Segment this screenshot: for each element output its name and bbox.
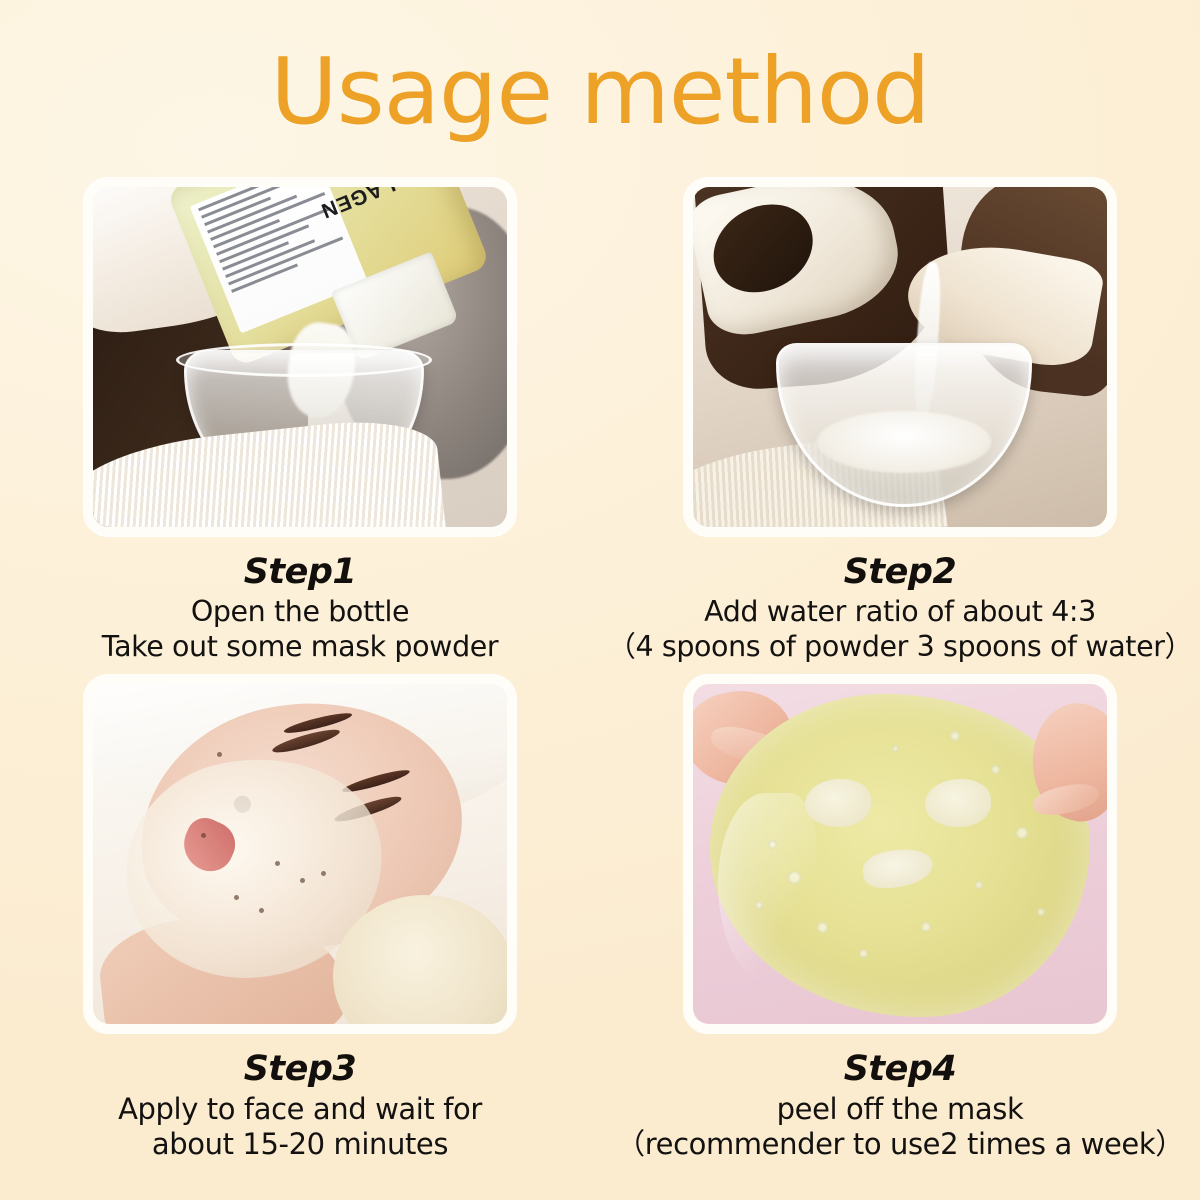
photo3-mask-speck <box>321 871 326 876</box>
photo4-bubble <box>921 922 931 932</box>
step-cell-4: Step4 peel off the mask （recommender to … <box>600 675 1200 1163</box>
step-label-1: Step1 <box>0 552 600 592</box>
step-label-3: Step3 <box>0 1049 600 1089</box>
step-caption-4: Step4 peel off the mask （recommender to … <box>600 1033 1200 1163</box>
step-caption-1: Step1 Open the bottle Take out some mask… <box>0 536 600 665</box>
photo4-eye-hole-left <box>805 779 871 827</box>
photo4-mask-highlight <box>718 793 817 983</box>
photo3-mask-speck <box>234 895 239 900</box>
photo4-bubble <box>975 881 983 889</box>
step-image-card-2 <box>684 178 1116 536</box>
photo3-mask-speck <box>300 878 305 883</box>
step-photo-4 <box>693 684 1107 1024</box>
photo4-bubble <box>859 949 868 958</box>
step-cell-3: Step3 Apply to face and wait for about 1… <box>0 675 600 1163</box>
step-label-2: Step2 <box>600 552 1200 592</box>
photo4-bubble <box>1016 827 1028 839</box>
step-image-card-4 <box>684 675 1116 1033</box>
step-description-2: Add water ratio of about 4:3 （4 spoons o… <box>600 595 1200 665</box>
photo4-bubble <box>768 840 777 849</box>
photo4-bubble <box>788 871 801 884</box>
photo3-mask-speck <box>275 861 280 866</box>
step-photo-1: COLLAGEN <box>93 187 507 527</box>
step-cell-2: Step2 Add water ratio of about 4:3 （4 sp… <box>600 178 1200 665</box>
step-label-4: Step4 <box>600 1049 1200 1089</box>
steps-grid: COLLAGEN Step1 Open the bottle Take out … <box>0 178 1200 1163</box>
usage-method-infographic: Usage method COLLAGEN <box>0 0 1200 1200</box>
photo3-mask-speck <box>259 908 264 913</box>
photo1-bottle-brand-text: COLLAGEN <box>317 187 443 222</box>
step-description-3: Apply to face and wait for about 15-20 m… <box>0 1092 600 1163</box>
photo4-eye-hole-right <box>925 779 991 827</box>
step-image-card-1: COLLAGEN <box>84 178 516 536</box>
photo4-bubble <box>892 745 899 752</box>
step-cell-1: COLLAGEN Step1 Open the bottle Take out … <box>0 178 600 665</box>
photo2-white-powder <box>817 411 991 472</box>
step-description-1: Open the bottle Take out some mask powde… <box>0 595 600 665</box>
step-photo-2 <box>693 187 1107 527</box>
photo3-mask-speck <box>217 752 222 757</box>
step-caption-3: Step3 Apply to face and wait for about 1… <box>0 1033 600 1163</box>
step-caption-2: Step2 Add water ratio of about 4:3 （4 sp… <box>600 536 1200 665</box>
photo2-pitcher-interior <box>698 188 828 310</box>
photo4-bubble <box>1037 908 1045 916</box>
step-description-4: peel off the mask （recommender to use2 t… <box>600 1092 1200 1163</box>
page-title: Usage method <box>0 44 1200 141</box>
photo4-bubble <box>817 922 828 933</box>
step-photo-3 <box>93 684 507 1024</box>
step-image-card-3 <box>84 675 516 1033</box>
